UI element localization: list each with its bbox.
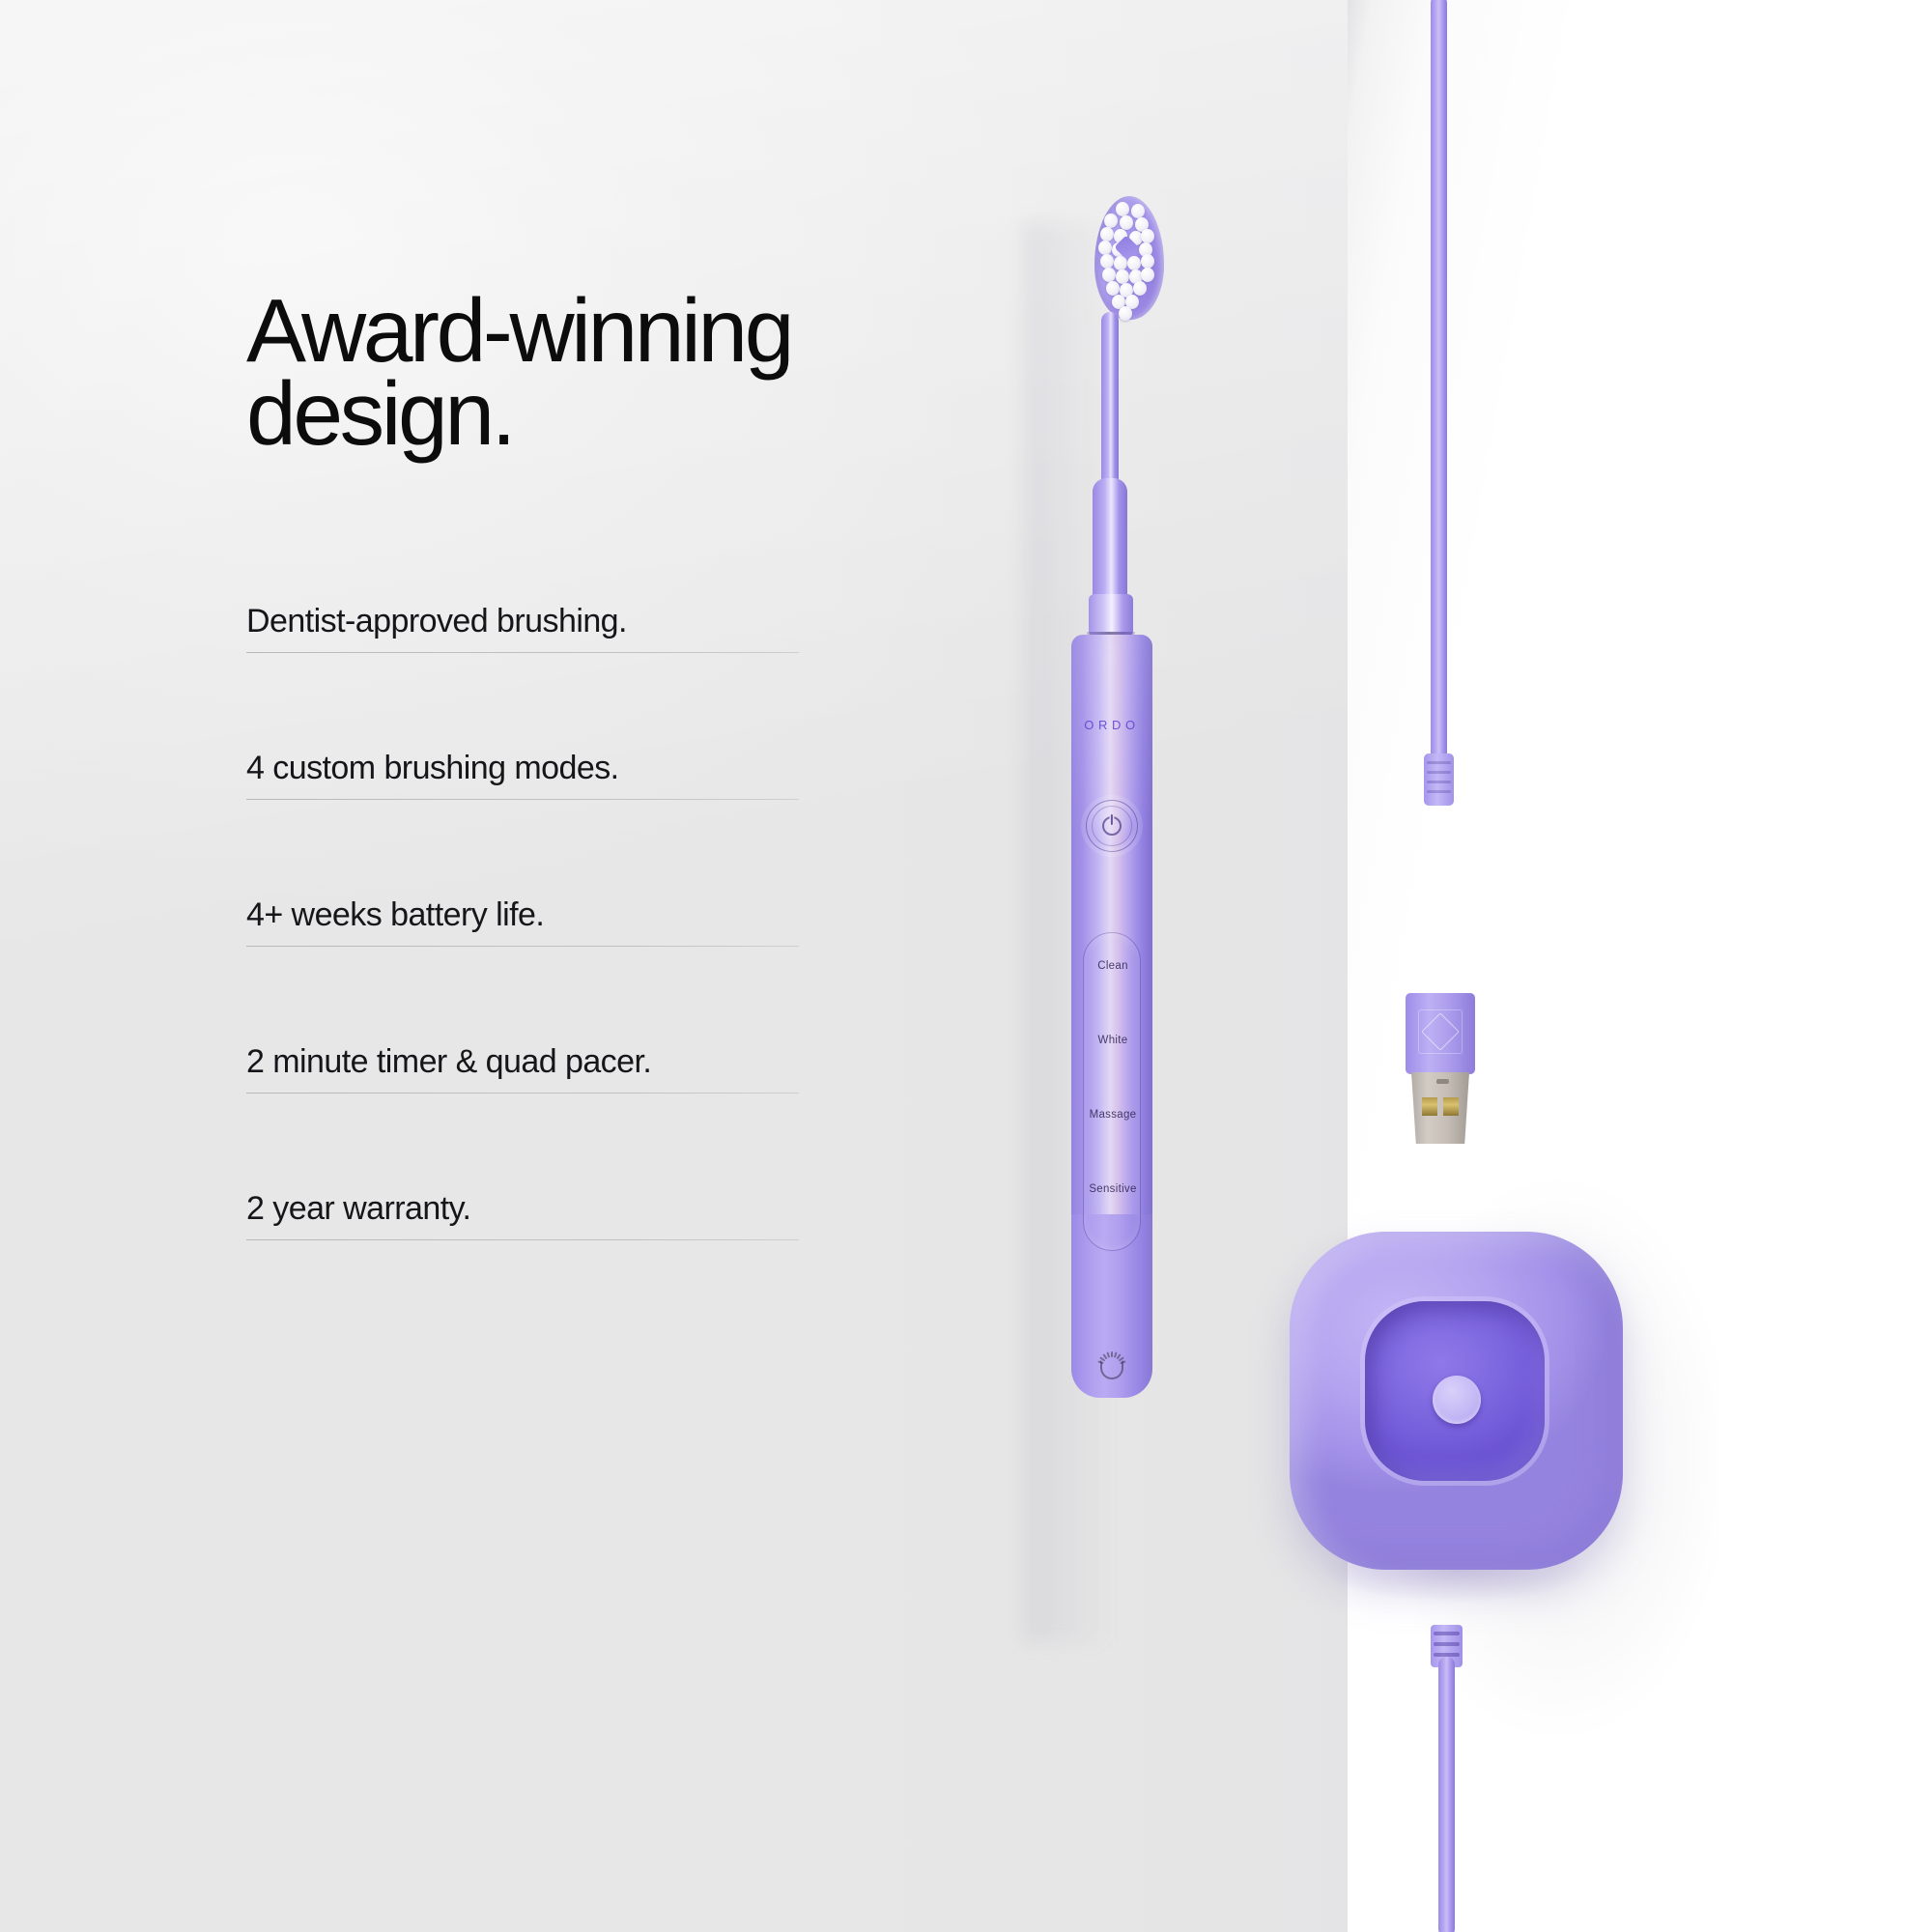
usb-charging-cable-upper — [1431, 0, 1447, 768]
feature-label: Dentist-approved brushing. — [246, 603, 627, 640]
list-item: 4+ weeks battery life. — [246, 830, 799, 977]
list-item: Dentist-approved brushing. — [246, 536, 799, 683]
brush-head-collar — [1089, 594, 1133, 637]
feature-divider — [246, 1239, 799, 1240]
bristle-tuft — [1098, 241, 1112, 255]
mode-label-white[interactable]: White — [1084, 1035, 1142, 1046]
bristle-tuft — [1100, 227, 1114, 241]
brush-neck — [1101, 312, 1119, 496]
feature-label: 2 minute timer & quad pacer. — [246, 1043, 651, 1081]
charge-tick — [1106, 1351, 1110, 1357]
usb-emboss-frame — [1418, 1009, 1463, 1054]
cable-strain-relief-upper — [1424, 753, 1454, 806]
mode-selector-panel[interactable]: Clean White Massage Sensitive — [1083, 932, 1141, 1251]
bristle-tuft — [1104, 213, 1118, 228]
mode-label-clean[interactable]: Clean — [1084, 960, 1142, 972]
bristle-tuft — [1106, 281, 1120, 296]
list-item: 2 year warranty. — [246, 1123, 799, 1270]
brand-wordmark: ORDO — [1071, 718, 1152, 732]
usb-a-connector — [1406, 993, 1475, 1148]
bristle-tuft — [1141, 229, 1154, 243]
bristle-tuft — [1120, 215, 1133, 230]
bristle-tuft — [1100, 254, 1114, 269]
bristle-tuft — [1141, 268, 1154, 282]
product-marketing-scene: Award-winning design. Dentist-approved b… — [0, 0, 1932, 1932]
brush-head-bristles — [1075, 188, 1160, 324]
bristle-tuft — [1127, 256, 1141, 270]
usb-charging-cable-lower — [1438, 1657, 1455, 1932]
page-title: Award-winning design. — [246, 290, 826, 455]
feature-list: Dentist-approved brushing. 4 custom brus… — [246, 536, 799, 1270]
feature-label: 2 year warranty. — [246, 1190, 470, 1228]
list-item: 2 minute timer & quad pacer. — [246, 977, 799, 1123]
bristle-tuft — [1116, 202, 1129, 216]
usb-metal-tongue — [1411, 1072, 1469, 1144]
power-button[interactable] — [1086, 800, 1138, 852]
brush-neck-flare — [1093, 478, 1127, 604]
feature-divider — [246, 652, 799, 653]
charging-base-post — [1433, 1376, 1481, 1424]
feature-divider — [246, 946, 799, 947]
feature-divider — [246, 1093, 799, 1094]
charge-level-indicator — [1096, 1351, 1127, 1380]
bristle-tuft — [1102, 268, 1116, 282]
bristle-tuft — [1141, 254, 1154, 269]
charging-base — [1290, 1232, 1623, 1570]
usb-contact-pad — [1422, 1097, 1437, 1116]
usb-slot — [1436, 1079, 1449, 1084]
feature-divider — [246, 799, 799, 800]
headline-block: Award-winning design. — [246, 290, 826, 455]
bristle-tuft — [1116, 270, 1129, 284]
feature-label: 4 custom brushing modes. — [246, 750, 619, 787]
usb-diamond-icon — [1421, 1012, 1460, 1051]
usb-connector-housing — [1406, 993, 1475, 1074]
list-item: 4 custom brushing modes. — [246, 683, 799, 830]
bristle-tuft — [1119, 306, 1132, 321]
feature-label: 4+ weeks battery life. — [246, 896, 544, 934]
usb-contact-pad — [1443, 1097, 1459, 1116]
mode-label-sensitive[interactable]: Sensitive — [1084, 1183, 1142, 1195]
bristle-tuft — [1133, 281, 1147, 296]
electric-toothbrush: ORDO Clean White Massage Sensitive — [1048, 188, 1241, 1657]
mode-label-massage[interactable]: Massage — [1084, 1109, 1142, 1121]
charge-tick — [1111, 1351, 1113, 1357]
bristle-tuft — [1131, 204, 1145, 218]
power-icon — [1102, 816, 1122, 836]
